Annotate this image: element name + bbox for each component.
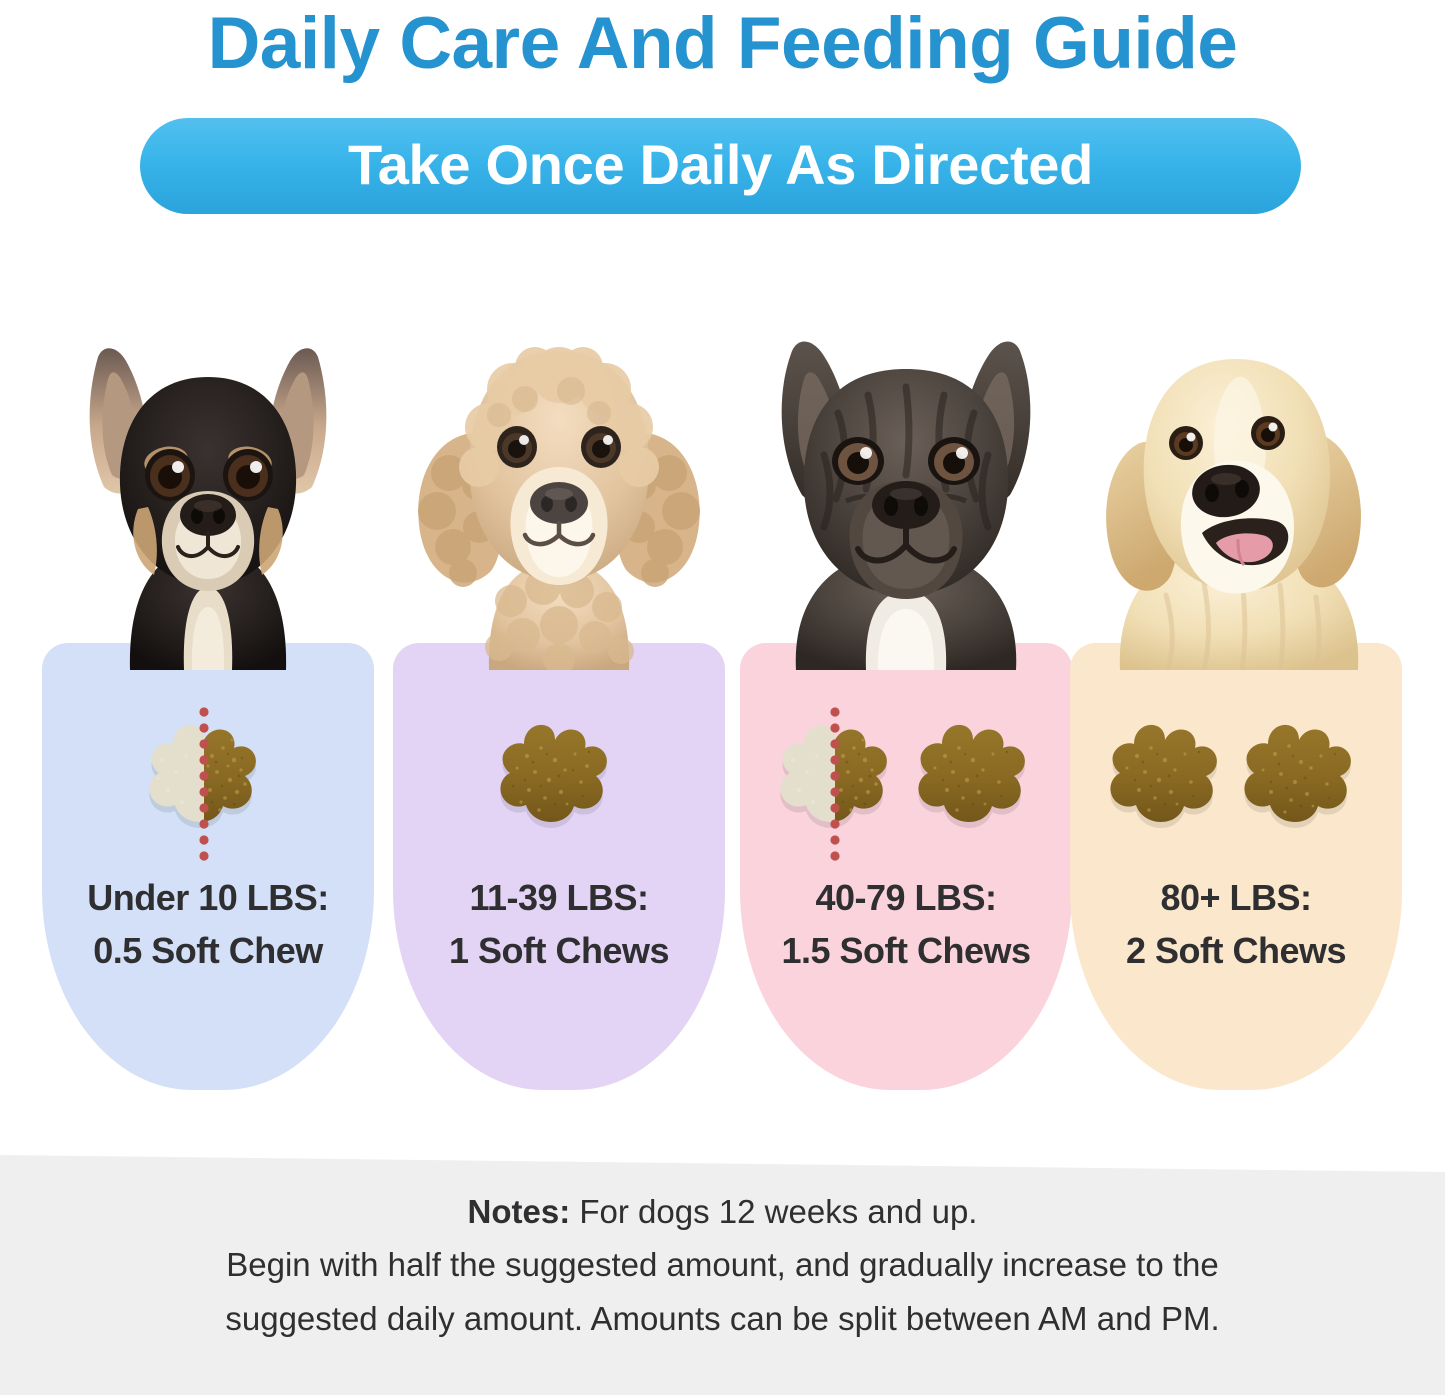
soft-chew-half-icon <box>142 710 274 832</box>
dose-amount-label: 1 Soft Chews <box>393 924 725 977</box>
card-panel: Under 10 LBS: 0.5 Soft Chew <box>42 643 374 1090</box>
dose-text-block: 80+ LBS: 2 Soft Chews <box>1070 871 1402 978</box>
chew-group <box>393 691 725 851</box>
dose-amount-label: 2 Soft Chews <box>1070 924 1402 977</box>
notes-line-3: suggested daily amount. Amounts can be s… <box>58 1292 1387 1345</box>
weight-range-label: 11-39 LBS: <box>393 871 725 924</box>
notes-text: Notes: For dogs 12 weeks and up. Begin w… <box>0 1185 1445 1345</box>
card-panel: 40-79 LBS: 1.5 Soft Chews <box>740 643 1072 1090</box>
soft-chew-full-icon <box>497 710 621 832</box>
notes-label: Notes: <box>468 1193 571 1230</box>
dose-amount-label: 1.5 Soft Chews <box>740 924 1072 977</box>
dog-photo-chihuahua <box>42 295 374 670</box>
dosage-card-row: Under 10 LBS: 0.5 Soft Chew <box>0 290 1445 1090</box>
weight-range-label: Under 10 LBS: <box>42 871 374 924</box>
weight-range-label: 40-79 LBS: <box>740 871 1072 924</box>
chew-group <box>740 691 1072 851</box>
notes-line-1-text: For dogs 12 weeks and up. <box>570 1193 977 1230</box>
dose-text-block: Under 10 LBS: 0.5 Soft Chew <box>42 871 374 978</box>
dose-text-block: 11-39 LBS: 1 Soft Chews <box>393 871 725 978</box>
dosage-card-40-79-lbs[interactable]: 40-79 LBS: 1.5 Soft Chews <box>740 290 1072 1090</box>
dose-amount-label: 0.5 Soft Chew <box>42 924 374 977</box>
subtitle-banner: Take Once Daily As Directed <box>140 118 1301 214</box>
subtitle-text: Take Once Daily As Directed <box>348 137 1093 193</box>
weight-range-label: 80+ LBS: <box>1070 871 1402 924</box>
soft-chew-half-icon <box>773 710 905 832</box>
dog-photo-french-bulldog <box>740 295 1072 670</box>
soft-chew-full-icon <box>1241 710 1365 832</box>
chew-group <box>1070 691 1402 851</box>
dosage-card-under-10-lbs[interactable]: Under 10 LBS: 0.5 Soft Chew <box>42 290 374 1090</box>
chew-group <box>42 691 374 851</box>
notes-line-1: Notes: For dogs 12 weeks and up. <box>58 1185 1387 1238</box>
notes-line-2: Begin with half the suggested amount, an… <box>58 1238 1387 1291</box>
dosage-card-11-39-lbs[interactable]: 11-39 LBS: 1 Soft Chews <box>393 290 725 1090</box>
card-panel: 80+ LBS: 2 Soft Chews <box>1070 643 1402 1090</box>
soft-chew-full-icon <box>1107 710 1231 832</box>
dog-photo-golden-retriever <box>1070 295 1402 670</box>
soft-chew-full-icon <box>915 710 1039 832</box>
feeding-guide-page: Daily Care And Feeding Guide Take Once D… <box>0 0 1445 1395</box>
card-panel: 11-39 LBS: 1 Soft Chews <box>393 643 725 1090</box>
dog-photo-toy-poodle <box>393 295 725 670</box>
dosage-card-80-plus-lbs[interactable]: 80+ LBS: 2 Soft Chews <box>1070 290 1402 1090</box>
page-title: Daily Care And Feeding Guide <box>0 2 1445 85</box>
dose-text-block: 40-79 LBS: 1.5 Soft Chews <box>740 871 1072 978</box>
